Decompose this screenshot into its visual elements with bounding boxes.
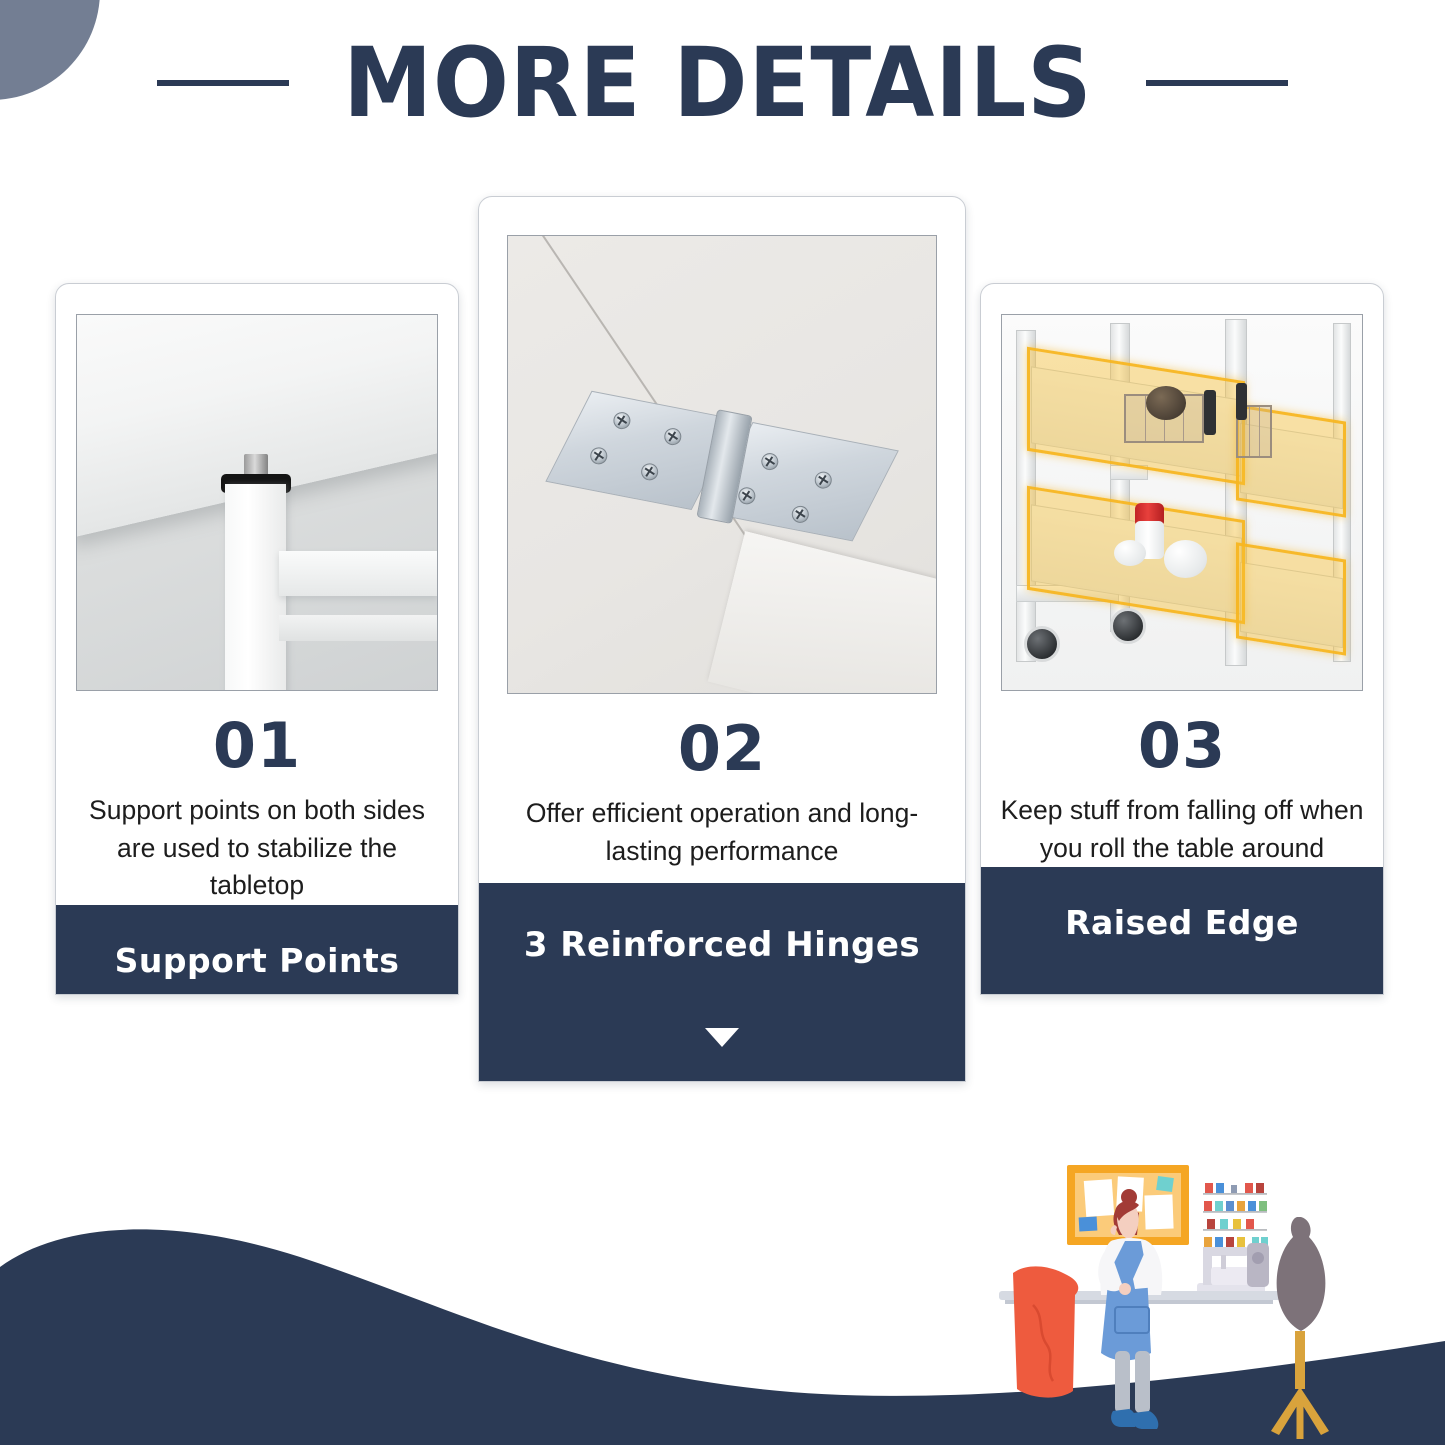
raised-edge-lower-right bbox=[1236, 543, 1346, 656]
card-01-label: Support Points bbox=[56, 905, 458, 980]
dark-tool-handle bbox=[1204, 390, 1217, 435]
table-leg-support-point-photo bbox=[77, 315, 437, 690]
card-02-footer-curve bbox=[478, 1051, 966, 1082]
card-03-number: 03 bbox=[997, 713, 1367, 778]
white-object-small bbox=[1114, 540, 1146, 566]
card-03-caption: Keep stuff from falling off when you rol… bbox=[997, 792, 1367, 867]
dark-blade bbox=[1236, 383, 1247, 421]
card-01-image bbox=[76, 314, 438, 691]
sewing-machine-icon bbox=[1197, 1243, 1269, 1295]
cart-caster-left bbox=[1024, 626, 1060, 662]
card-01-number: 01 bbox=[72, 713, 442, 778]
tabletop-edge bbox=[708, 531, 937, 694]
card-02-caption: Offer efficient operation and long-lasti… bbox=[495, 795, 949, 870]
chevron-down-icon[interactable] bbox=[705, 1028, 739, 1047]
steel-hinge bbox=[559, 388, 884, 542]
white-object-round bbox=[1164, 540, 1207, 578]
basket-wire bbox=[1259, 407, 1260, 456]
yarn-ball bbox=[1146, 386, 1186, 420]
dress-form-mannequin-icon bbox=[1271, 1217, 1329, 1439]
card-01-body: 01 Support points on both sides are used… bbox=[56, 691, 458, 905]
card-03-footer: Raised Edge bbox=[981, 867, 1383, 995]
card-02-footer: 3 Reinforced Hinges bbox=[479, 883, 965, 1081]
feature-card-02[interactable]: 02 Offer efficient operation and long-la… bbox=[478, 196, 966, 1082]
card-03-image bbox=[1001, 314, 1363, 691]
thread-spool-rack-icon bbox=[1203, 1183, 1268, 1247]
card-02-image bbox=[507, 235, 937, 694]
card-03-label: Raised Edge bbox=[981, 867, 1383, 942]
card-03-body: 03 Keep stuff from falling off when you … bbox=[981, 691, 1383, 867]
white-table-leg bbox=[225, 484, 286, 691]
red-fabric bbox=[1013, 1266, 1078, 1397]
basket-wire bbox=[1249, 407, 1250, 456]
card-02-body: 02 Offer efficient operation and long-la… bbox=[479, 694, 965, 883]
reinforced-steel-hinge-photo bbox=[508, 236, 936, 693]
card-02-label: 3 Reinforced Hinges bbox=[479, 883, 965, 965]
infographic-page: MORE DETAILS 01 Support points on both s… bbox=[0, 0, 1445, 1445]
feature-card-01[interactable]: 01 Support points on both sides are used… bbox=[55, 283, 459, 995]
feature-card-03[interactable]: 03 Keep stuff from falling off when you … bbox=[980, 283, 1384, 995]
white-cross-rail bbox=[279, 551, 437, 596]
card-03-footer-curve bbox=[980, 969, 1384, 995]
cart-caster-mid bbox=[1110, 608, 1146, 644]
card-01-footer: Support Points bbox=[56, 905, 458, 995]
sewing-studio-illustration bbox=[975, 1155, 1445, 1445]
card-02-number: 02 bbox=[495, 716, 949, 781]
card-01-caption: Support points on both sides are used to… bbox=[72, 792, 442, 905]
white-lower-rail bbox=[279, 615, 437, 641]
rolling-cart-raised-edge-photo bbox=[1002, 315, 1362, 690]
